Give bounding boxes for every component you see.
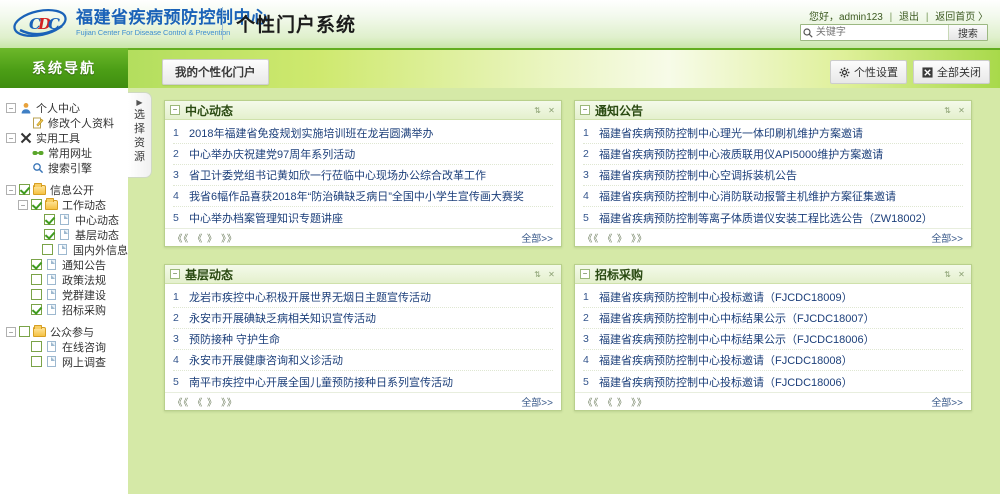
list-item-link[interactable]: 福建省疾病预防控制中心理光一体印刷机维护方案邀请 [599, 125, 863, 141]
tree-node-label: 招标采购 [62, 302, 106, 318]
personal-settings-label: 个性设置 [854, 64, 898, 80]
cdc-logo-icon: C D C [12, 4, 68, 42]
list-item[interactable]: 4福建省疾病预防控制中心消防联动报警主机维护方案征集邀请 [583, 186, 963, 207]
tools-icon [19, 131, 32, 144]
list-item-number: 3 [173, 169, 189, 181]
page-icon [56, 243, 69, 256]
tree-node-2[interactable]: −实用工具 [6, 130, 128, 145]
refresh-icon[interactable]: ⇅ [533, 270, 542, 279]
list-item-number: 5 [173, 212, 189, 224]
list-item[interactable]: 4福建省疾病预防控制中心投标邀请（FJCDC18008） [583, 350, 963, 371]
logout-link[interactable]: 退出 [899, 12, 919, 23]
tree-node-label: 常用网址 [48, 145, 92, 161]
tree-node-label: 党群建设 [62, 287, 106, 303]
tree-node-4[interactable]: 搜索引擎 [6, 160, 128, 175]
greeting-text: 您好，admin123 [809, 12, 883, 23]
portlet-footer: 《《 《 》 》》全部>> [165, 228, 561, 246]
tree-node-label: 基层动态 [75, 227, 119, 243]
portlet-body: 12018年福建省免疫规划实施培训班在龙岩圆满举办2中心举办庆祝建党97周年系列… [165, 120, 561, 228]
search-icon [801, 25, 816, 40]
portlet-center-news: −中心动态⇅✕12018年福建省免疫规划实施培训班在龙岩圆满举办2中心举办庆祝建… [164, 100, 562, 247]
list-item-number: 2 [583, 312, 599, 324]
list-item-link[interactable]: 福建省疾病预防控制中心中标结果公示（FJCDC18006） [599, 331, 875, 347]
page-icon [45, 288, 58, 301]
list-item-link[interactable]: 福建省疾病预防控制中心中标结果公示（FJCDC18007） [599, 310, 875, 326]
resource-char-2: 资 [134, 137, 145, 150]
list-item-number: 3 [583, 169, 599, 181]
home-link[interactable]: 返回首页 [935, 12, 975, 23]
list-item-link[interactable]: 永安市开展健康咨询和义诊活动 [189, 352, 343, 368]
tree-spacer [18, 342, 28, 352]
page-icon [45, 258, 58, 271]
tree-node-5[interactable]: −信息公开 [6, 182, 128, 197]
portal-toolbar: 我的个性化门户 个性设置 全部关闭 [128, 48, 1000, 88]
tree-node-14[interactable]: −公众参与 [6, 324, 128, 339]
resource-char-0: 选 [134, 109, 145, 122]
list-item[interactable]: 4永安市开展健康咨询和义诊活动 [173, 350, 553, 371]
list-item[interactable]: 3福建省疾病预防控制中心空调拆装机公告 [583, 165, 963, 186]
collapse-icon[interactable]: − [170, 105, 180, 115]
folder-icon [33, 325, 46, 338]
list-item-link[interactable]: 2018年福建省免疫规划实施培训班在龙岩圆满举办 [189, 125, 433, 141]
list-item-link[interactable]: 龙岩市疾控中心积极开展世界无烟日主题宣传活动 [189, 289, 431, 305]
personal-settings-button[interactable]: 个性设置 [830, 60, 907, 84]
list-item-link[interactable]: 福建省疾病预防控制中心液质联用仪API5000维护方案邀请 [599, 146, 883, 162]
list-item[interactable]: 2福建省疾病预防控制中心中标结果公示（FJCDC18007） [583, 308, 963, 329]
page-icon [45, 340, 58, 353]
portlet-tools: ⇅✕ [533, 106, 556, 115]
resource-char-1: 择 [134, 123, 145, 136]
portlet-tools: ⇅✕ [943, 106, 966, 115]
tree-node-label: 在线咨询 [62, 339, 106, 355]
list-item-link[interactable]: 福建省疾病预防控制等离子体质谱仪安装工程比选公告（ZW18002） [599, 210, 933, 226]
top-header: C D C 福建省疾病预防控制中心 Fujian Center For Dise… [0, 0, 1000, 48]
tree-checkbox[interactable] [42, 244, 53, 255]
sidebar-tree: −个人中心修改个人资料−实用工具常用网址搜索引擎−信息公开−工作动态中心动态基层… [0, 88, 128, 494]
list-item-number: 1 [173, 127, 189, 139]
tree-node-8[interactable]: 基层动态 [6, 227, 128, 242]
tree-collapse-icon[interactable]: − [6, 103, 16, 113]
list-item-number: 1 [173, 291, 189, 303]
tree-node-label: 实用工具 [36, 130, 80, 146]
list-item[interactable]: 1福建省疾病预防控制中心投标邀请（FJCDC18009） [583, 287, 963, 308]
tree-checkbox[interactable] [31, 259, 42, 270]
list-item-number: 4 [173, 354, 189, 366]
portlet-footer: 《《 《 》 》》全部>> [165, 392, 561, 410]
list-item[interactable]: 5福建省疾病预防控制等离子体质谱仪安装工程比选公告（ZW18002） [583, 207, 963, 228]
list-item-link[interactable]: 福建省疾病预防控制中心消防联动报警主机维护方案征集邀请 [599, 188, 896, 204]
portlet-footer: 《《 《 》 》》全部>> [575, 228, 971, 246]
portlet-body: 1龙岩市疾控中心积极开展世界无烟日主题宣传活动2永安市开展碘缺乏病相关知识宣传活… [165, 284, 561, 392]
list-item-link[interactable]: 省卫计委党组书记黄如欣一行莅临中心现场办公综合改革工作 [189, 167, 486, 183]
tree-checkbox[interactable] [31, 304, 42, 315]
portlet-title: 通知公告 [595, 102, 943, 119]
tree-checkbox[interactable] [31, 274, 42, 285]
list-item-link[interactable]: 福建省疾病预防控制中心空调拆装机公告 [599, 167, 797, 183]
tree-checkbox[interactable] [31, 356, 42, 367]
portlet-tools: ⇅✕ [533, 270, 556, 279]
list-item-number: 5 [583, 376, 599, 388]
my-portal-tab[interactable]: 我的个性化门户 [162, 59, 269, 85]
user-bar: 您好，admin123 | 退出 | 返回首页 〉 [809, 8, 988, 23]
list-item-link[interactable]: 福建省疾病预防控制中心投标邀请（FJCDC18008） [599, 352, 853, 368]
portlet-tools: ⇅✕ [943, 270, 966, 279]
page-icon [45, 273, 58, 286]
list-item-link[interactable]: 福建省疾病预防控制中心投标邀请（FJCDC18006） [599, 374, 853, 390]
list-item-link[interactable]: 我省6幅作品喜获2018年“防治碘缺乏病日”全国中小学生宣传画大赛奖 [189, 188, 524, 204]
close-icon[interactable]: ✕ [957, 270, 966, 279]
tree-spacer [31, 230, 41, 240]
list-item[interactable]: 5中心举办档案管理知识专题讲座 [173, 207, 553, 228]
tree-collapse-icon[interactable]: − [6, 133, 16, 143]
portlet-body: 1福建省疾病预防控制中心理光一体印刷机维护方案邀请2福建省疾病预防控制中心液质联… [575, 120, 971, 228]
link-icon [31, 146, 44, 159]
tree-checkbox[interactable] [31, 341, 42, 352]
list-item[interactable]: 5南平市疾控中心开展全国儿童预防接种日系列宣传活动 [173, 371, 553, 392]
tree-spacer [18, 357, 28, 367]
tree-spacer [18, 118, 28, 128]
tree-node-label: 个人中心 [36, 100, 80, 116]
list-item-link[interactable]: 中心举办庆祝建党97周年系列活动 [189, 146, 355, 162]
tree-node-6[interactable]: −工作动态 [6, 197, 128, 212]
system-name: 个性门户系统 [236, 10, 356, 37]
list-item-link[interactable]: 永安市开展碘缺乏病相关知识宣传活动 [189, 310, 376, 326]
pagination-controls[interactable]: 《《 《 》 》》 [173, 231, 237, 245]
list-item-number: 1 [583, 291, 599, 303]
portlet-footer: 《《 《 》 》》全部>> [575, 392, 971, 410]
folder-icon [45, 198, 58, 211]
collapse-icon[interactable]: − [580, 269, 590, 279]
tree-spacer [18, 260, 28, 270]
list-item-number: 2 [173, 148, 189, 160]
list-item[interactable]: 1福建省疾病预防控制中心理光一体印刷机维护方案邀请 [583, 123, 963, 144]
tree-node-10[interactable]: 通知公告 [6, 257, 128, 272]
portlet-header: −招标采购⇅✕ [575, 265, 971, 284]
portlet-body: 1福建省疾病预防控制中心投标邀请（FJCDC18009）2福建省疾病预防控制中心… [575, 284, 971, 392]
view-all-link[interactable]: 全部>> [931, 394, 963, 409]
tree-spacer [18, 148, 28, 158]
refresh-icon[interactable]: ⇅ [533, 106, 542, 115]
list-item-link[interactable]: 福建省疾病预防控制中心投标邀请（FJCDC18009） [599, 289, 853, 305]
portlet-notice-announcement: −通知公告⇅✕1福建省疾病预防控制中心理光一体印刷机维护方案邀请2福建省疾病预防… [574, 100, 972, 247]
list-item-number: 3 [173, 333, 189, 345]
home-arrow-icon: 〉 [978, 12, 988, 23]
portlet-header: −中心动态⇅✕ [165, 101, 561, 120]
list-item[interactable]: 12018年福建省免疫规划实施培训班在龙岩圆满举办 [173, 123, 553, 144]
search-box[interactable]: 搜索 [800, 24, 988, 41]
tree-spacer [31, 215, 41, 225]
tree-node-11[interactable]: 政策法规 [6, 272, 128, 287]
tree-node-12[interactable]: 党群建设 [6, 287, 128, 302]
tree-node-0[interactable]: −个人中心 [6, 100, 128, 115]
tree-node-7[interactable]: 中心动态 [6, 212, 128, 227]
list-item[interactable]: 2永安市开展碘缺乏病相关知识宣传活动 [173, 308, 553, 329]
portlet-header: −通知公告⇅✕ [575, 101, 971, 120]
tree-node-label: 工作动态 [62, 197, 106, 213]
tree-node-label: 中心动态 [75, 212, 119, 228]
view-all-link[interactable]: 全部>> [521, 230, 553, 245]
portlet-title: 招标采购 [595, 266, 943, 283]
list-item[interactable]: 1龙岩市疾控中心积极开展世界无烟日主题宣传活动 [173, 287, 553, 308]
list-item-number: 5 [583, 212, 599, 224]
portlet-title: 基层动态 [185, 266, 533, 283]
header-divider [222, 7, 223, 40]
tree-checkbox[interactable] [31, 199, 42, 210]
portlet-grassroots-news: −基层动态⇅✕1龙岩市疾控中心积极开展世界无烟日主题宣传活动2永安市开展碘缺乏病… [164, 264, 562, 411]
list-item[interactable]: 4我省6幅作品喜获2018年“防治碘缺乏病日”全国中小学生宣传画大赛奖 [173, 186, 553, 207]
list-item[interactable]: 2福建省疾病预防控制中心液质联用仪API5000维护方案邀请 [583, 144, 963, 165]
search-input[interactable] [816, 25, 948, 40]
list-item-link[interactable]: 南平市疾控中心开展全国儿童预防接种日系列宣传活动 [189, 374, 453, 390]
chevron-right-icon: ▶ [136, 98, 142, 108]
page-icon [58, 213, 71, 226]
close-box-icon [922, 67, 933, 78]
close-icon[interactable]: ✕ [547, 270, 556, 279]
pagination-controls[interactable]: 《《 《 》 》》 [583, 395, 647, 409]
tree-node-label: 网上调查 [62, 354, 106, 370]
close-all-button[interactable]: 全部关闭 [913, 60, 990, 84]
portlet-header: −基层动态⇅✕ [165, 265, 561, 284]
list-item-number: 1 [583, 127, 599, 139]
tree-node-label: 修改个人资料 [48, 115, 114, 131]
site-logo[interactable]: C D C 福建省疾病预防控制中心 Fujian Center For Dise… [12, 4, 269, 42]
tree-node-3[interactable]: 常用网址 [6, 145, 128, 160]
tree-node-1[interactable]: 修改个人资料 [6, 115, 128, 130]
list-item-number: 4 [583, 190, 599, 202]
list-item-link[interactable]: 预防接种 守护生命 [189, 331, 280, 347]
collapse-icon[interactable]: − [170, 269, 180, 279]
toolbar-buttons: 个性设置 全部关闭 [830, 60, 990, 84]
content-area: ▶ 选 择 资 源 −中心动态⇅✕12018年福建省免疫规划实施培训班在龙岩圆满… [128, 88, 1000, 494]
list-item[interactable]: 3福建省疾病预防控制中心中标结果公示（FJCDC18006） [583, 329, 963, 350]
list-item-number: 4 [583, 354, 599, 366]
close-icon[interactable]: ✕ [957, 106, 966, 115]
tree-node-label: 政策法规 [62, 272, 106, 288]
tree-spacer [31, 245, 39, 255]
sep-1: | [890, 12, 893, 23]
list-item-number: 5 [173, 376, 189, 388]
page-icon [45, 355, 58, 368]
svg-text:C: C [48, 15, 60, 33]
list-item-link[interactable]: 中心举办档案管理知识专题讲座 [189, 210, 343, 226]
tree-node-label: 搜索引擎 [48, 160, 92, 176]
page-icon [58, 228, 71, 241]
folder-icon [33, 183, 46, 196]
close-all-label: 全部关闭 [937, 64, 981, 80]
view-all-link[interactable]: 全部>> [521, 394, 553, 409]
search-icon [31, 161, 44, 174]
tree-node-label: 信息公开 [50, 182, 94, 198]
tree-node-13[interactable]: 招标采购 [6, 302, 128, 317]
tree-node-label: 国内外信息 [73, 242, 128, 258]
collapse-icon[interactable]: − [580, 105, 590, 115]
list-item[interactable]: 2中心举办庆祝建党97周年系列活动 [173, 144, 553, 165]
pagination-controls[interactable]: 《《 《 》 》》 [173, 395, 237, 409]
resource-char-3: 源 [134, 151, 145, 164]
tree-spacer [18, 163, 28, 173]
refresh-icon[interactable]: ⇅ [943, 106, 952, 115]
tree-node-16[interactable]: 网上调查 [6, 354, 128, 369]
search-button[interactable]: 搜索 [948, 25, 987, 40]
tree-collapse-icon[interactable]: − [6, 327, 16, 337]
tree-node-label: 通知公告 [62, 257, 106, 273]
tree-collapse-icon[interactable]: − [6, 185, 16, 195]
tree-collapse-icon[interactable]: − [18, 200, 28, 210]
list-item-number: 4 [173, 190, 189, 202]
tree-checkbox[interactable] [19, 184, 30, 195]
page-icon [45, 303, 58, 316]
page-root: C D C 福建省疾病预防控制中心 Fujian Center For Dise… [0, 0, 1000, 494]
pencil-icon [31, 116, 44, 129]
list-item-number: 3 [583, 333, 599, 345]
refresh-icon[interactable]: ⇅ [943, 270, 952, 279]
list-item[interactable]: 3省卫计委党组书记黄如欣一行莅临中心现场办公综合改革工作 [173, 165, 553, 186]
tree-checkbox[interactable] [44, 229, 55, 240]
list-item-number: 2 [173, 312, 189, 324]
pagination-controls[interactable]: 《《 《 》 》》 [583, 231, 647, 245]
list-item[interactable]: 5福建省疾病预防控制中心投标邀请（FJCDC18006） [583, 371, 963, 392]
tree-node-label: 公众参与 [50, 324, 94, 340]
tree-checkbox[interactable] [44, 214, 55, 225]
sep-2: | [926, 12, 929, 23]
tree-node-15[interactable]: 在线咨询 [6, 339, 128, 354]
tree-node-9[interactable]: 国内外信息 [6, 242, 128, 257]
close-icon[interactable]: ✕ [547, 106, 556, 115]
user-icon [19, 101, 32, 114]
tree-spacer [18, 275, 28, 285]
view-all-link[interactable]: 全部>> [931, 230, 963, 245]
list-item[interactable]: 3预防接种 守护生命 [173, 329, 553, 350]
tree-spacer [18, 305, 28, 315]
list-item-number: 2 [583, 148, 599, 160]
portlet-title: 中心动态 [185, 102, 533, 119]
select-resource-tab[interactable]: ▶ 选 择 资 源 [128, 92, 152, 178]
tree-checkbox[interactable] [19, 326, 30, 337]
portlet-bidding-procurement: −招标采购⇅✕1福建省疾病预防控制中心投标邀请（FJCDC18009）2福建省疾… [574, 264, 972, 411]
nav-title: 系统导航 [0, 48, 128, 88]
tree-spacer [18, 290, 28, 300]
gear-icon [839, 67, 850, 78]
tree-checkbox[interactable] [31, 289, 42, 300]
